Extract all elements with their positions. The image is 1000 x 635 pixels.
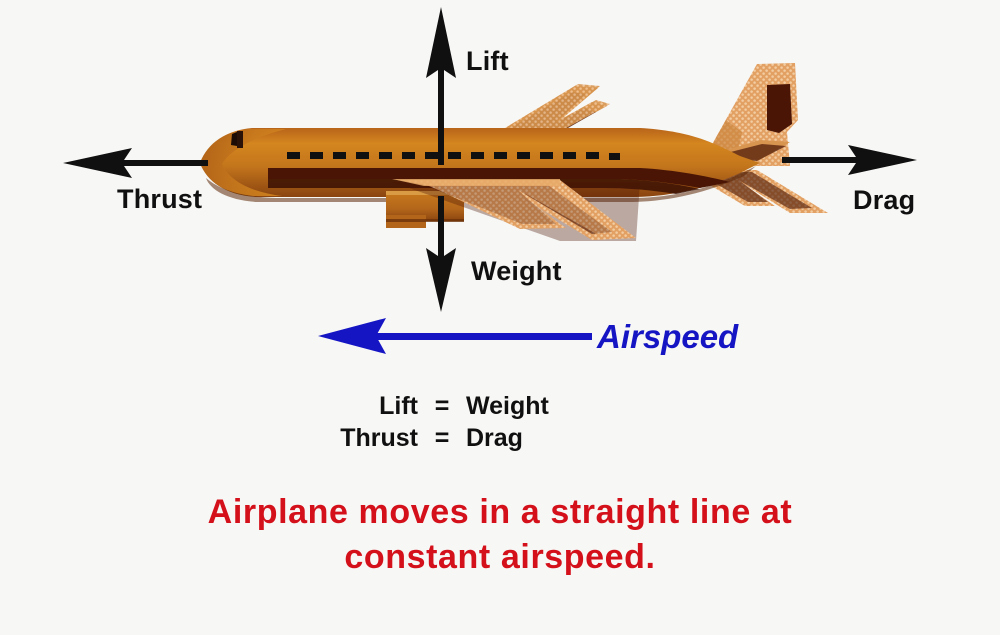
equation-right-term: Weight [466,390,549,422]
equation-operator: = [418,390,466,422]
diagram-canvas: Lift Thrust Drag Weight Airspeed Lift = … [0,0,1000,635]
equation-row: Lift = Weight [330,390,590,422]
lift-label: Lift [466,48,509,75]
drag-label: Drag [853,187,915,214]
airspeed-label: Airspeed [597,320,738,353]
aircraft-group [200,63,828,241]
weight-label: Weight [471,258,562,285]
thrust-label: Thrust [117,186,202,213]
equation-right-term: Drag [466,422,523,454]
equation-list: Lift = Weight Thrust = Drag [330,390,590,454]
equation-row: Thrust = Drag [330,422,590,454]
caption-text: Airplane moves in a straight line at con… [0,490,1000,580]
cabin-windows [287,152,620,160]
equation-left-term: Thrust [330,422,418,454]
equation-left-term: Lift [330,390,418,422]
equation-operator: = [418,422,466,454]
